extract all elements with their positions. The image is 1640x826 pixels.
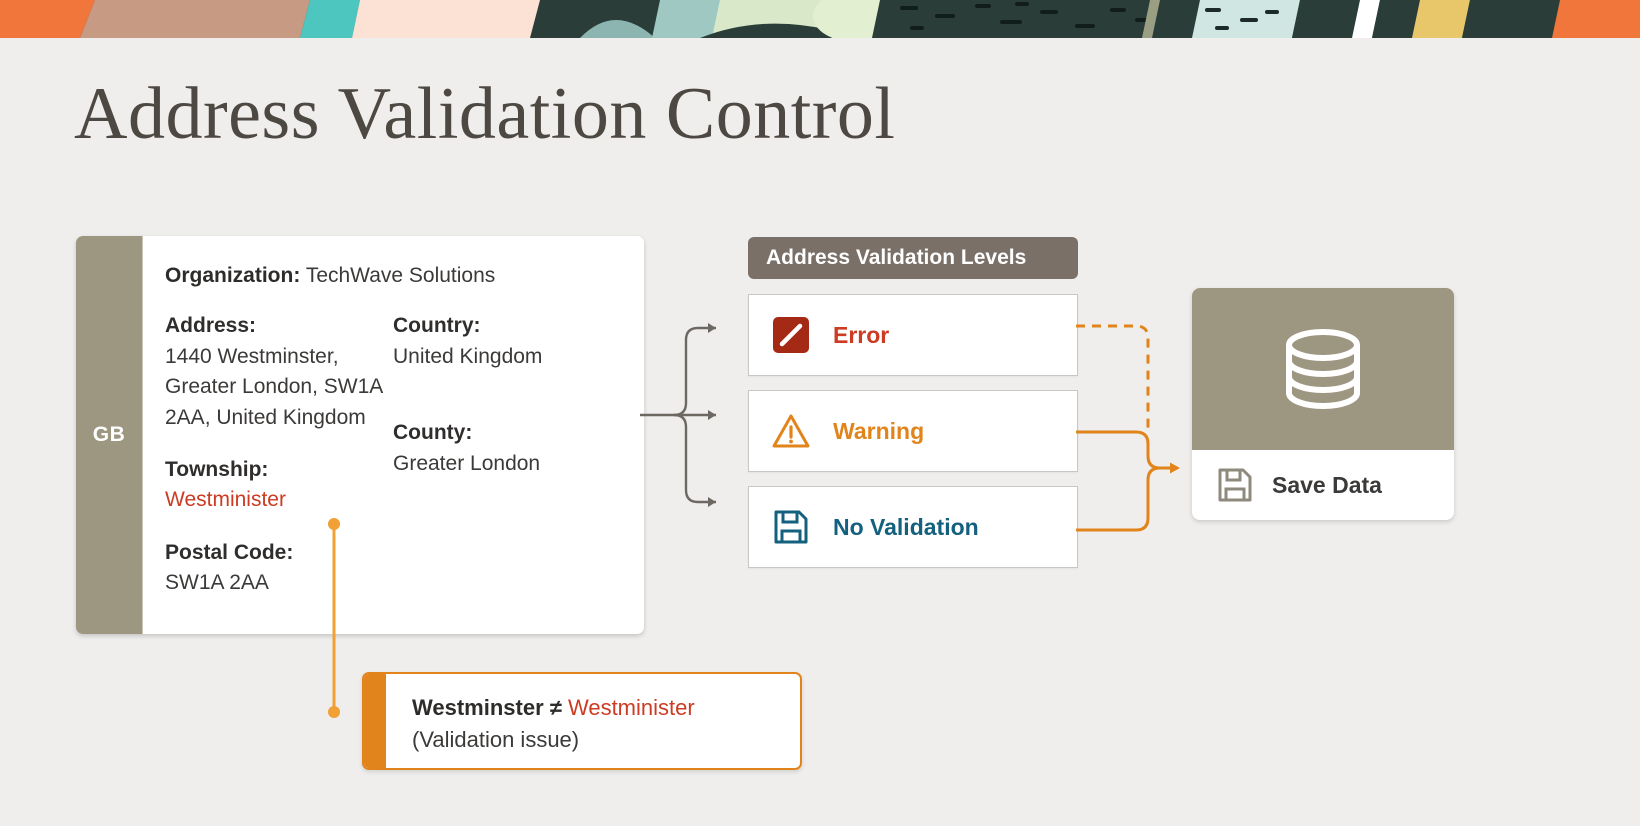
blocked-error-path <box>1076 326 1148 430</box>
callout-expected-value: Westminster <box>412 695 544 720</box>
callout-note: (Validation issue) <box>412 724 695 756</box>
save-data-row[interactable]: Save Data <box>1192 450 1454 520</box>
field-township-label: Township: <box>165 455 393 485</box>
field-county-label: County: <box>393 418 622 448</box>
callout-accent-bar <box>364 674 386 768</box>
database-cylinder-icon <box>1275 321 1371 417</box>
branch-connector <box>640 300 728 530</box>
field-address-value: 1440 Westminster, Greater London, SW1A 2… <box>165 342 393 433</box>
decorative-banner <box>0 0 1640 38</box>
address-card[interactable]: GB Organization: TechWave Solutions Addr… <box>76 236 644 634</box>
field-country: Country: United Kingdom <box>393 311 622 372</box>
organization-label: Organization: <box>165 264 300 287</box>
field-township: Township: Westminister <box>165 455 393 516</box>
field-county: County: Greater London <box>393 418 622 479</box>
validation-level-warning[interactable]: Warning <box>748 390 1078 472</box>
callout-comparison: Westminster ≠ Westminister <box>412 692 695 724</box>
validation-level-error[interactable]: Error <box>748 294 1078 376</box>
error-slash-icon <box>771 315 811 355</box>
country-code-label: GB <box>93 423 126 447</box>
validation-level-error-label: Error <box>833 322 889 349</box>
page-title: Address Validation Control <box>74 72 895 157</box>
organization-row: Organization: TechWave Solutions <box>165 262 622 289</box>
field-country-label: Country: <box>393 311 622 341</box>
warning-triangle-icon <box>771 411 811 451</box>
field-address: Address: 1440 Westminster, Greater Londo… <box>165 311 393 433</box>
validation-level-warning-label: Warning <box>833 418 924 445</box>
floppy-save-icon <box>771 507 811 547</box>
field-postal-code-label: Postal Code: <box>165 538 393 568</box>
warning-flow-path <box>1076 432 1172 468</box>
validation-level-no-validation[interactable]: No Validation <box>748 486 1078 568</box>
novalidation-flow-path <box>1076 468 1160 530</box>
country-flag-tab: GB <box>76 236 143 634</box>
validation-level-no-validation-label: No Validation <box>833 514 979 541</box>
save-data-card[interactable]: Save Data <box>1192 288 1454 520</box>
validation-issue-callout: Westminster ≠ Westminister (Validation i… <box>362 672 802 770</box>
field-township-value: Westminister <box>165 485 393 515</box>
address-card-body: Organization: TechWave Solutions Address… <box>143 236 644 634</box>
flow-connectors <box>1076 290 1186 540</box>
callout-actual-value: Westminister <box>568 695 695 720</box>
database-icon-panel <box>1192 288 1454 450</box>
callout-operator: ≠ <box>550 695 562 720</box>
field-postal-code: Postal Code: SW1A 2AA <box>165 538 393 599</box>
validation-panel-header: Address Validation Levels <box>748 237 1078 279</box>
floppy-disk-icon <box>1216 466 1254 504</box>
field-address-label: Address: <box>165 311 393 341</box>
township-leader-line <box>327 518 341 718</box>
field-postal-code-value: SW1A 2AA <box>165 568 393 598</box>
save-data-label: Save Data <box>1272 472 1382 499</box>
organization-value: TechWave Solutions <box>306 264 495 287</box>
field-county-value: Greater London <box>393 449 622 479</box>
field-country-value: United Kingdom <box>393 342 622 372</box>
